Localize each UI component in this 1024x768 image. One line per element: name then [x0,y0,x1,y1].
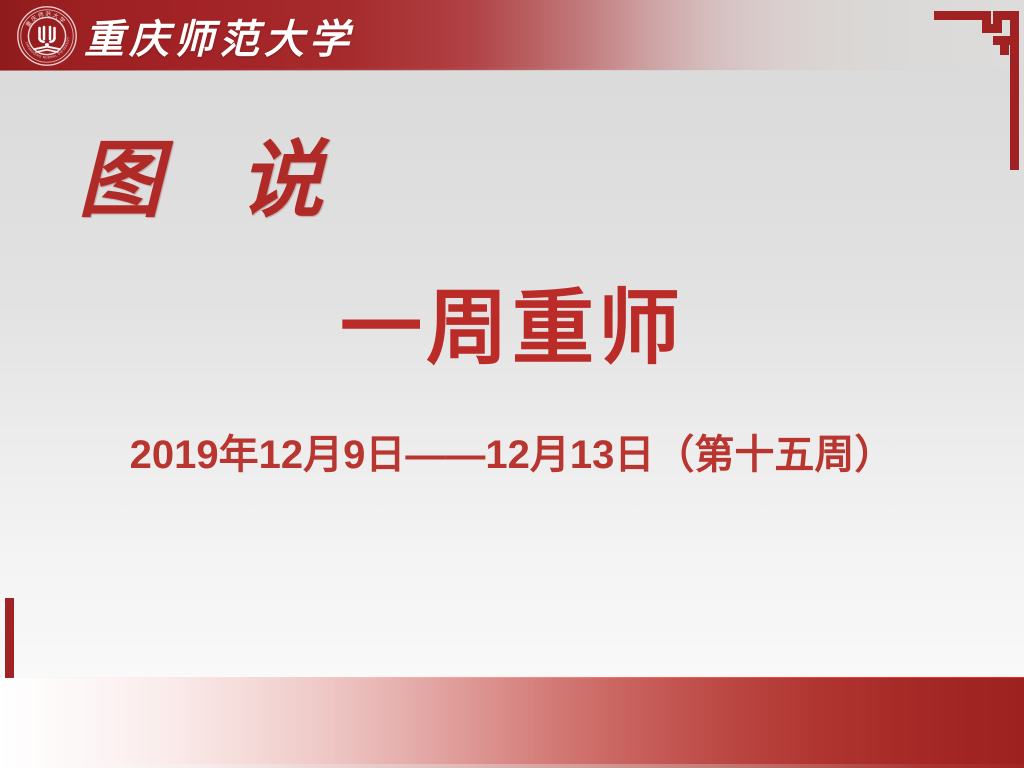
bottom-gradient-bar [0,678,1024,768]
university-wordmark: 重庆师范大学 [84,8,354,64]
top-right-fret-ornament-icon [914,0,1024,190]
university-seal-icon: 重庆师范大学 CHONGQING NORMAL UNIVERSITY [16,5,78,67]
slide-subtitle-date-range: 2019年12月9日——12月13日（第十五周） [0,435,1024,475]
bottom-bar-footer-line [0,764,1024,768]
presentation-slide: 重庆师范大学 CHONGQING NORMAL UNIVERSITY [0,0,1024,768]
slide-title-line-2: 一周重师 [0,288,1024,370]
header-band-edge [0,68,1024,71]
slide-title-line-1: 图 说 [78,138,347,222]
